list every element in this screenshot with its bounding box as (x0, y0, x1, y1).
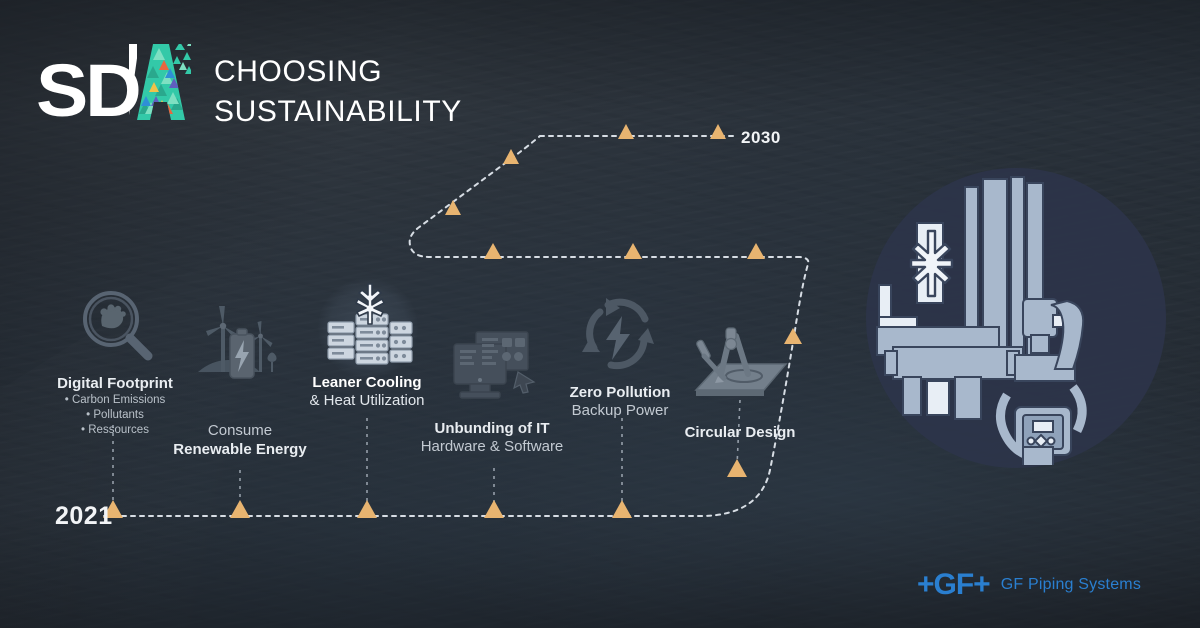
step-title: Digital Footprint (10, 375, 220, 393)
wind-turbine-battery-icon (192, 306, 284, 393)
step-unbunding-of-it: Unbunding of IT Hardware & Software (404, 420, 580, 456)
step-subtitle: Hardware & Software (404, 438, 580, 457)
gf-name: GF Piping Systems (1001, 576, 1141, 594)
step-bullet-1: • Carbon Emissions (10, 393, 220, 408)
step-title: Leaner Cooling (282, 374, 452, 392)
step-title: Unbunding of IT (404, 420, 580, 438)
step-leaner-cooling: Leaner Cooling & Heat Utilization (282, 374, 452, 410)
monitor-cursor-icon (448, 328, 540, 417)
compass-drafting-icon (682, 326, 792, 413)
gf-mark: +GF+ (917, 570, 990, 600)
step-zero-pollution: Zero Pollution Backup Power (534, 384, 706, 420)
step-bullet-2: • Pollutants (10, 408, 220, 423)
step-subtitle: Backup Power (534, 402, 706, 421)
step-circular-design: Circular Design (666, 424, 814, 442)
recycle-bolt-icon (578, 296, 658, 381)
step-subtitle: & Heat Utilization (282, 392, 452, 411)
gf-piping-systems-logo: +GF+ GF Piping Systems (917, 570, 1141, 600)
timeline-end-year: 2030 (741, 128, 781, 148)
step-title: Circular Design (666, 424, 814, 442)
step-subtitle: Consume (152, 422, 328, 441)
step-title: Renewable Energy (152, 441, 328, 459)
server-rack-snowflake-icon (324, 282, 414, 377)
step-renewable-energy: Consume Renewable Energy (152, 422, 328, 458)
infographic-canvas: SD (0, 0, 1200, 628)
step-title: Zero Pollution (534, 384, 706, 402)
timeline-start-year: 2021 (55, 502, 113, 531)
magnifier-footprint-icon (78, 288, 156, 371)
